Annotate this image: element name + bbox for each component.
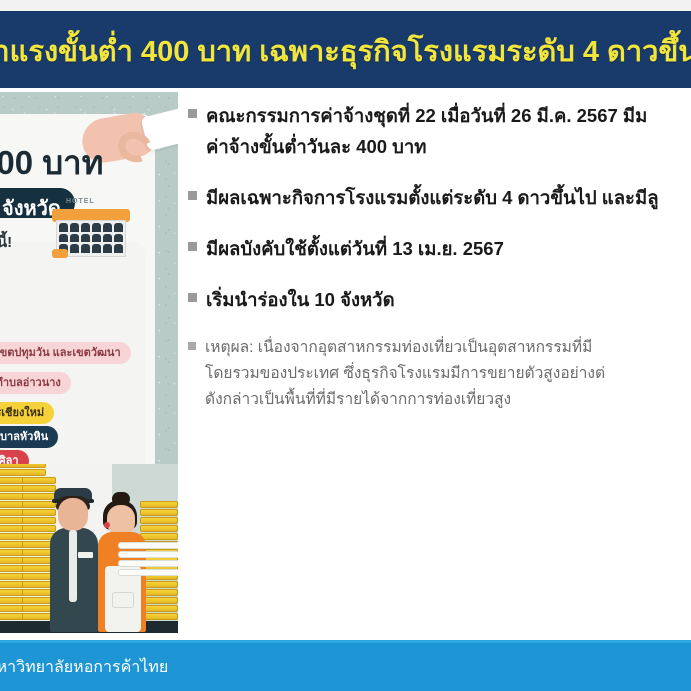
bullet-line: คณะกรรมการค่าจ้างชุดที่ 22 เมื่อวันที่ 2… — [206, 100, 647, 131]
footer-text: มหาวิทยาลัยหอการค้าไทย — [0, 655, 168, 680]
note-text: เหตุผล: เนื่องจากอุตสาหกรรมท่องเที่ยวเป็… — [205, 335, 605, 413]
area-pill: เทศบาลหัวหิน — [0, 426, 58, 448]
content-body: คณะกรรมการค่าจ้างชุดที่ 22 เมื่อวันที่ 2… — [188, 100, 691, 413]
bullet-text: มีผลเฉพาะกิจการโรงแรมตั้งแต่ระดับ 4 ดาวข… — [206, 182, 659, 213]
area-pill: วนตำบลอ่าวนาง — [0, 372, 71, 394]
bullet-square-icon — [188, 191, 197, 200]
bullet-square-icon — [188, 109, 197, 118]
bullet-item: คณะกรรมการค่าจ้างชุดที่ 22 เมื่อวันที่ 2… — [188, 100, 691, 162]
bullet-line: มีผลบังคับใช้ตั้งแต่วันที่ 13 เม.ย. 2567 — [206, 233, 504, 264]
footer-top-line — [0, 640, 691, 643]
bullet-square-icon — [188, 242, 197, 251]
top-white-strip — [0, 0, 691, 11]
page-title: ค่าแรงขั้นต่ำ 400 บาท เฉพาะธุรกิจโรงแรมร… — [0, 28, 691, 74]
bullet-square-icon — [188, 293, 197, 302]
bullet-item: เริ่มนำร่องใน 10 จังหวัด — [188, 284, 691, 315]
infographic-headline: 400 บาท — [0, 136, 103, 189]
bullet-line: มีผลเฉพาะกิจการโรงแรมตั้งแต่ระดับ 4 ดาวข… — [206, 182, 659, 213]
area-pill: ครเชียงใหม่ — [0, 402, 54, 424]
towel-stack — [118, 542, 178, 576]
note-line: โดยรวมของประเทศ ซึ่งธุรกิจโรงแรมมีการขยา… — [205, 361, 605, 387]
bullet-line: เริ่มนำร่องใน 10 จังหวัด — [206, 284, 395, 315]
bullet-item: มีผลบังคับใช้ตั้งแต่วันที่ 13 เม.ย. 2567 — [188, 233, 691, 264]
note-line: ดังกล่าวเป็นพื้นที่ที่มีรายได้จากการท่อง… — [205, 387, 605, 413]
slide-root: ค่าแรงขั้นต่ำ 400 บาท เฉพาะธุรกิจโรงแรมร… — [0, 0, 691, 691]
note-item: เหตุผล: เนื่องจากอุตสาหกรรมท่องเที่ยวเป็… — [188, 335, 691, 413]
hotel-sign-label: HOTEL — [66, 198, 95, 205]
bellboy-figure — [48, 486, 100, 632]
infographic-image: 400 บาท จังหวัด 67 นี้! HOTEL เขตปทุมวัน… — [0, 92, 178, 633]
slide-footer: มหาวิทยาลัยหอการค้าไทย — [0, 640, 691, 691]
slide-title-bar: ค่าแรงขั้นต่ำ 400 บาท เฉพาะธุรกิจโรงแรมร… — [0, 11, 691, 88]
hotel-building-icon: HOTEL — [54, 209, 128, 257]
note-line: เหตุผล: เนื่องจากอุตสาหกรรมท่องเที่ยวเป็… — [205, 335, 605, 361]
bullet-text: มีผลบังคับใช้ตั้งแต่วันที่ 13 เม.ย. 2567 — [206, 233, 504, 264]
bullet-square-icon — [188, 342, 196, 350]
hotel-staff-illustration — [0, 464, 178, 633]
bullet-line: ค่าจ้างขั้นต่ำวันละ 400 บาท — [206, 131, 647, 162]
bullet-item: มีผลเฉพาะกิจการโรงแรมตั้งแต่ระดับ 4 ดาวข… — [188, 182, 691, 213]
bullet-text: เริ่มนำร่องใน 10 จังหวัด — [206, 284, 395, 315]
bullet-text: คณะกรรมการค่าจ้างชุดที่ 22 เมื่อวันที่ 2… — [206, 100, 647, 162]
area-pill: เขตปทุมวัน และเขตวัฒนา — [0, 342, 131, 364]
infographic-sub-label: 67 นี้! — [0, 230, 12, 254]
